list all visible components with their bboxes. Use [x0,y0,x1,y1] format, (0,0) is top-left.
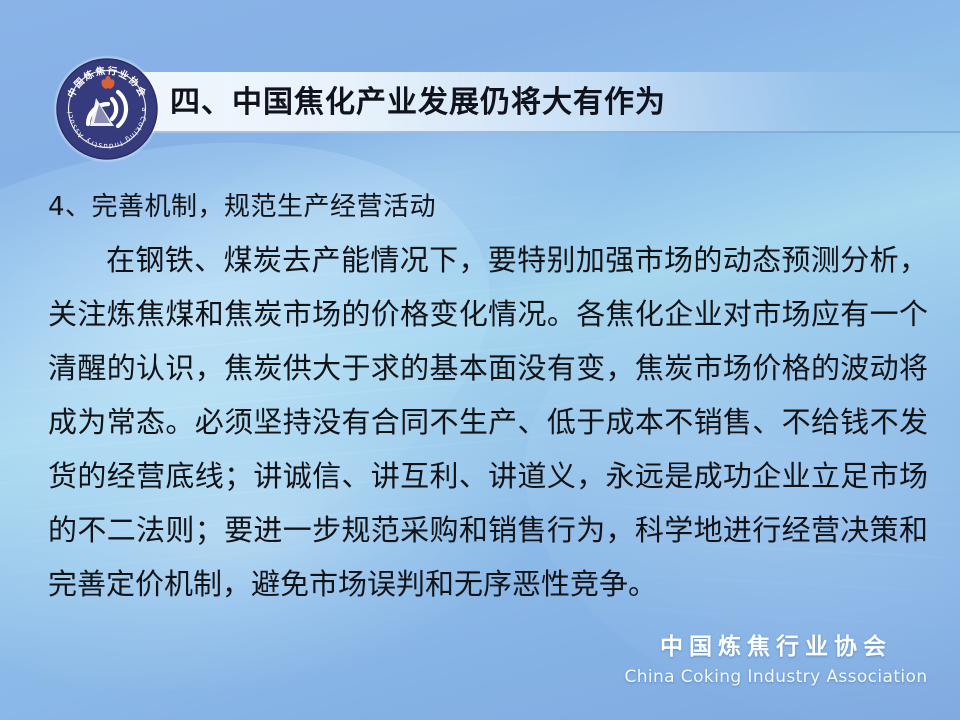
brand-name-cn: 中国炼焦行业协会 [616,632,936,662]
page-title: 四、中国焦化产业发展仍将大有作为 [170,74,910,132]
body-lead-line: 4、完善机制，规范生产经营活动 [48,186,928,223]
body-paragraph: 在钢铁、煤炭去产能情况下，要特别加强市场的动态预测分析，关注炼焦煤和焦炭市场的价… [48,233,928,611]
footer-brand: 中国炼焦行业协会 China Coking Industry Associati… [616,632,936,690]
slide-canvas: 中国炼焦行业协会 China Coking Industry Associati… [0,0,960,720]
association-logo-icon: 中国炼焦行业协会 China Coking Industry Associati… [52,54,162,164]
slide-body: 4、完善机制，规范生产经营活动 在钢铁、煤炭去产能情况下，要特别加强市场的动态预… [48,186,928,611]
brand-name-en: China Coking Industry Association [616,664,936,690]
